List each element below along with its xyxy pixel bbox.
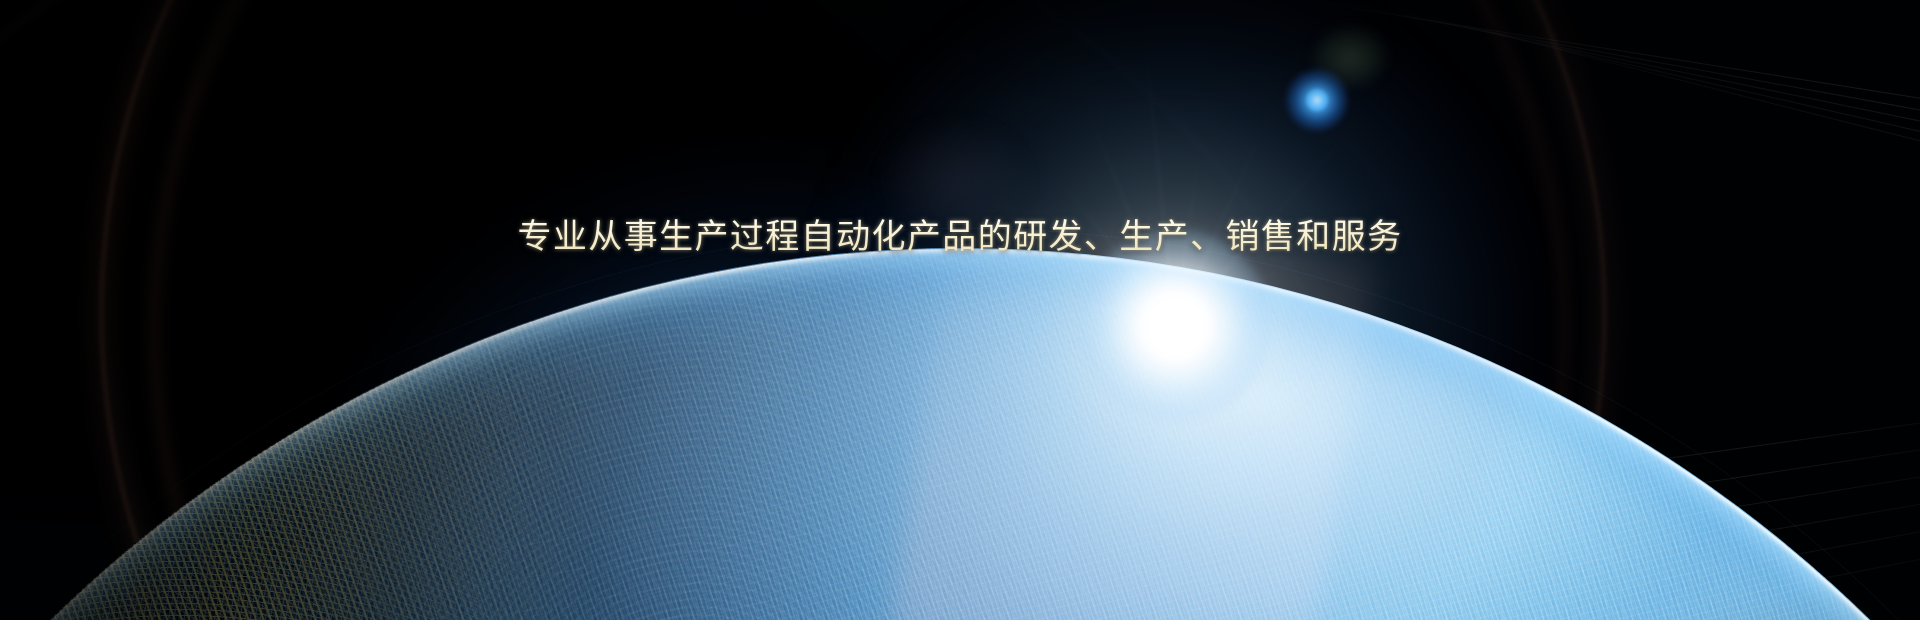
light-streaks-upper xyxy=(0,0,1920,620)
lens-flare-orb-blue xyxy=(1286,69,1348,131)
vignette-overlay xyxy=(0,0,1920,620)
sun-ray xyxy=(1174,325,1313,502)
hero-headline-text: 专业从事生产过程自动化产品的研发、生产、销售和服务 xyxy=(518,213,1403,261)
earth-surface xyxy=(0,248,1920,620)
sun-ray xyxy=(1142,19,1176,327)
lens-flare-arc-inner xyxy=(150,0,1568,620)
sun-ray xyxy=(1123,326,1176,532)
light-streak xyxy=(1317,0,1920,217)
sun-rays xyxy=(1175,325,1177,327)
light-streak xyxy=(1262,0,1920,151)
earth-ocean-texture xyxy=(0,248,1920,620)
earth-cloud-texture xyxy=(0,248,1920,620)
lens-flare-orb-core xyxy=(1306,89,1328,111)
light-streak xyxy=(1298,0,1920,195)
light-streak xyxy=(173,524,1604,620)
light-streak xyxy=(1336,0,1920,239)
light-streak xyxy=(160,480,1596,620)
atmosphere-rim xyxy=(0,248,1920,620)
lens-flare-arc-outer xyxy=(49,0,1656,620)
light-streak xyxy=(1236,520,1920,620)
light-streak xyxy=(1207,448,1920,593)
light-streak xyxy=(876,0,1920,117)
sun-ray xyxy=(1174,326,1270,586)
sun-ray xyxy=(931,325,1176,531)
sun-ray xyxy=(1175,325,1454,396)
sun-ray xyxy=(877,251,1175,327)
sun-ray xyxy=(1175,292,1407,327)
space-background xyxy=(0,0,1920,620)
light-streak xyxy=(166,502,1600,620)
earth-limb-glow xyxy=(0,10,1142,620)
light-streak xyxy=(854,0,1920,91)
light-streak xyxy=(812,0,1920,39)
light-streak xyxy=(1227,496,1920,620)
light-streak xyxy=(153,458,1592,620)
lens-flare-ghost-green xyxy=(1312,26,1388,88)
light-streak xyxy=(1280,0,1920,173)
light-streaks-lower xyxy=(0,0,1920,620)
light-streak xyxy=(1189,400,1920,526)
sun-halo xyxy=(815,0,1535,620)
earth-sphere xyxy=(0,248,1920,620)
earth-terminator-shading xyxy=(0,248,1920,620)
space-shadow-overlay xyxy=(0,0,1920,620)
light-streak xyxy=(833,0,1920,65)
light-streak xyxy=(147,436,1588,620)
light-streak xyxy=(791,0,1920,13)
light-streak xyxy=(1217,472,1920,620)
light-streak xyxy=(135,392,1580,601)
city-lights xyxy=(0,248,1920,620)
sun-ray xyxy=(1174,326,1182,485)
sun-ray xyxy=(1174,325,1316,422)
lens-flare-arc-faint xyxy=(0,0,1424,620)
hero-banner: 专业从事生产过程自动化产品的研发、生产、销售和服务 xyxy=(0,0,1920,620)
light-streak xyxy=(141,414,1584,620)
hero-headline: 专业从事生产过程自动化产品的研发、生产、销售和服务 xyxy=(0,213,1920,261)
sun-ray xyxy=(1034,325,1176,551)
atmosphere-halo xyxy=(0,228,1920,620)
